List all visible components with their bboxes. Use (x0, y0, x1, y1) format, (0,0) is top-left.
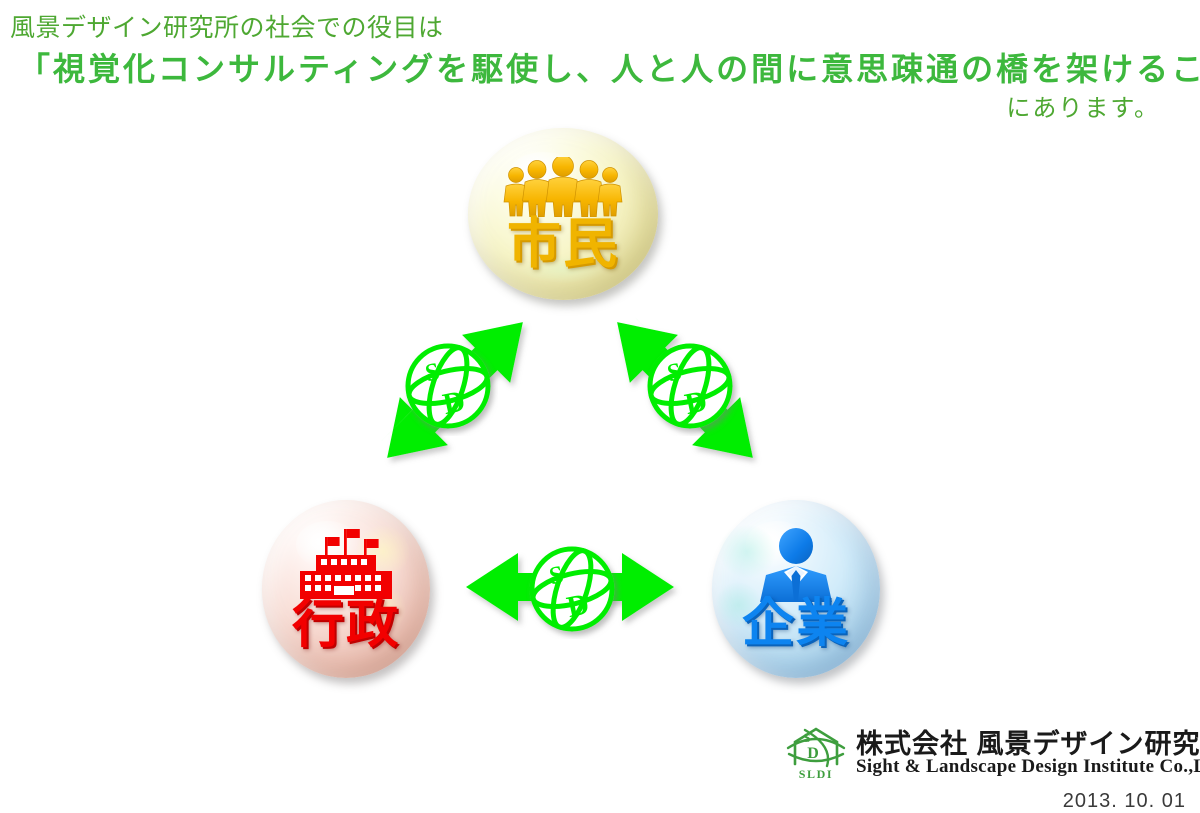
sldi-logo-icon: S D SLDI (783, 720, 849, 782)
node-citizens[interactable]: 市民 (468, 128, 658, 300)
svg-text:S: S (803, 730, 810, 745)
date-label: 2013. 10. 01 (0, 790, 1186, 813)
businessman-icon (746, 528, 846, 602)
sldi-globe-icon-citizens-government: S D (398, 336, 498, 436)
arrow-layer (0, 0, 1200, 812)
svg-text:D: D (807, 745, 819, 762)
node-citizens-label: 市民 (507, 217, 619, 271)
group-of-people-icon (502, 157, 624, 217)
sldi-globe-icon-government-enterprise: S D (522, 539, 622, 639)
sldi-globe-icon-citizens-enterprise: S D (640, 336, 740, 436)
node-enterprise[interactable]: 企業 (712, 500, 880, 678)
footer-block: S D SLDI 株式会社 風景デザイン研究所 Sight & Landscap… (0, 714, 1200, 812)
sldi-wordmark: SLDI (799, 767, 833, 781)
relationship-diagram: S D S D S D (0, 0, 1200, 812)
node-enterprise-label: 企業 (742, 598, 850, 650)
company-name-en: Sight & Landscape Design Institute Co.,L… (856, 756, 1200, 778)
node-government-label: 行政 (292, 599, 400, 651)
government-building-icon (292, 527, 400, 601)
node-government[interactable]: 行政 (262, 500, 430, 678)
